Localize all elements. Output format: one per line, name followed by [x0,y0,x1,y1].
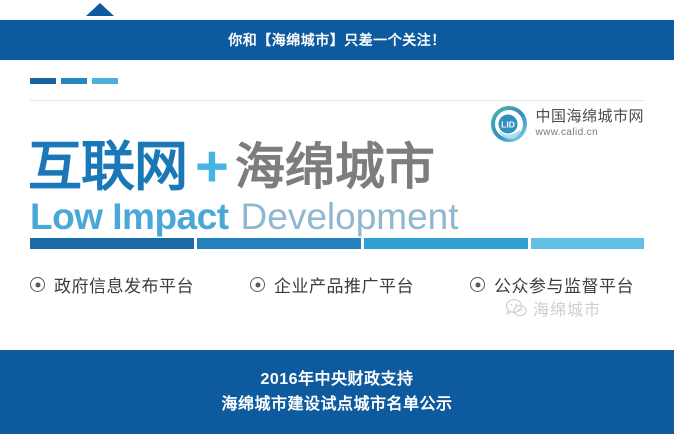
feature-item-government: 政府信息发布平台 [30,272,194,297]
plus-sign-icon: + [195,138,229,196]
subheadline-development: Development [241,198,459,235]
dash-decoration [30,78,118,84]
bottom-title-line2: 海绵城市建设试点城市名单公示 [221,396,452,414]
poster-subheadline: Low Impact Development [30,198,459,235]
headline-sponge-city: 海绵城市 [235,142,435,192]
horizontal-divider [30,100,644,101]
bar-segment-1 [30,238,194,249]
site-logo-block: LID 中国海绵城市网 www.calid.cn [491,106,644,142]
dash-light [92,78,118,84]
radio-dot-icon [470,277,485,292]
feature-item-public: 公众参与监督平台 [470,272,634,297]
wechat-logo-icon [505,297,527,319]
article-image-card: 你和【海绵城市】只差一个关注！ [0,0,674,434]
feature-label-enterprise: 企业产品推广平台 [274,272,414,297]
poster-card: LID 中国海绵城市网 www.calid.cn 互联网 + 海绵城市 Low … [0,60,674,350]
svg-text:LID: LID [502,120,516,130]
logo-text-block: 中国海绵城市网 www.calid.cn [535,109,644,138]
dash-dark [30,78,56,84]
dash-medium [61,78,87,84]
radio-dot-icon [30,277,45,292]
feature-label-public: 公众参与监督平台 [494,272,634,297]
triangle-up-icon [86,3,114,16]
gradient-bar-strip [30,238,644,249]
poster-headline: 互联网 + 海绵城市 [28,138,435,196]
feature-list: 政府信息发布平台 企业产品推广平台 公众参与监督平台 [28,272,646,297]
bottom-title-bar: 2016年中央财政支持 海绵城市建设试点城市名单公示 [0,350,674,434]
logo-site-url: www.calid.cn [535,128,644,139]
follow-banner[interactable]: 你和【海绵城市】只差一个关注！ [0,20,674,60]
lid-circle-logo-icon: LID [491,106,527,142]
bottom-title-line1: 2016年中央财政支持 [260,371,413,389]
logo-site-name: 中国海绵城市网 [535,109,644,125]
headline-internet-plus-main: 互联网 [28,140,187,194]
radio-dot-icon [250,277,265,292]
bar-segment-2 [197,238,361,249]
subheadline-low-impact: Low Impact [30,198,229,235]
feature-item-enterprise: 企业产品推广平台 [250,272,414,297]
bar-segment-3 [364,238,528,249]
follow-banner-text: 你和【海绵城市】只差一个关注！ [228,30,446,50]
wechat-watermark: 海绵城市 [505,296,601,320]
wechat-watermark-text: 海绵城市 [533,296,601,320]
bar-segment-4 [531,238,644,249]
feature-label-government: 政府信息发布平台 [54,272,194,297]
